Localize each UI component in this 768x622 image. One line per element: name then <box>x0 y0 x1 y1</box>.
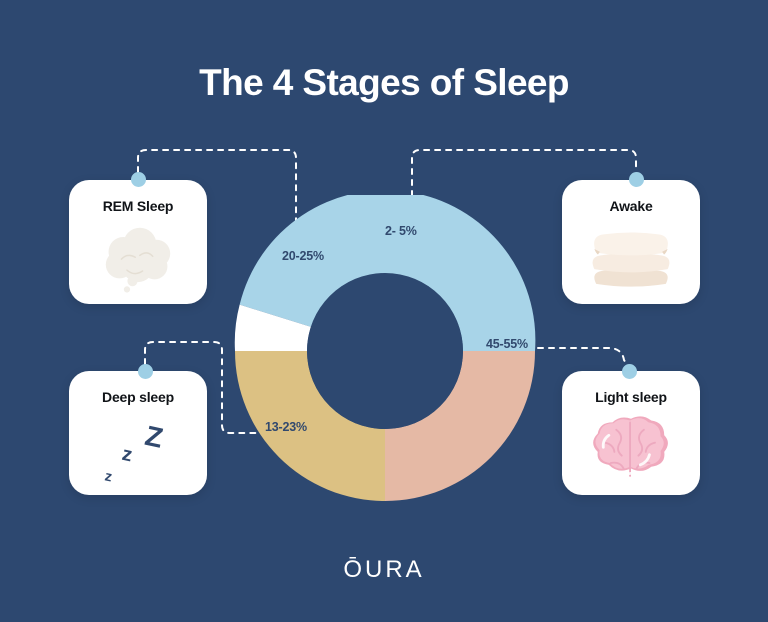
pillow-stack-icon <box>562 220 700 300</box>
brain-icon <box>562 411 700 491</box>
card-title-awake: Awake <box>562 198 700 214</box>
connector-light <box>538 348 628 366</box>
card-title-deep: Deep sleep <box>69 389 207 405</box>
card-awake[interactable]: Awake <box>562 180 700 304</box>
svg-text:z: z <box>104 467 114 484</box>
svg-text:z: z <box>120 443 134 467</box>
segment-label-rem: 20-25% <box>282 249 324 263</box>
oura-logo: ŌURA <box>0 556 768 584</box>
zzz-icon: Z z z <box>69 411 207 491</box>
dream-cloud-icon <box>69 220 207 300</box>
segment-label-deep: 13-23% <box>265 420 307 434</box>
segment-label-awake: 2- 5% <box>385 224 417 238</box>
anchor-dot-rem <box>131 172 146 187</box>
segment-label-light: 45-55% <box>486 337 528 351</box>
sleep-stages-donut-chart <box>229 195 541 507</box>
anchor-dot-awake <box>629 172 644 187</box>
card-light-sleep[interactable]: Light sleep <box>562 371 700 495</box>
card-title-rem: REM Sleep <box>69 198 207 214</box>
anchor-dot-light <box>622 364 637 379</box>
infographic-canvas: The 4 Stages of Sleep 2- 5% <box>0 0 768 622</box>
svg-text:Z: Z <box>142 419 165 454</box>
card-title-light: Light sleep <box>562 389 700 405</box>
card-rem-sleep[interactable]: REM Sleep <box>69 180 207 304</box>
card-deep-sleep[interactable]: Deep sleep Z z z <box>69 371 207 495</box>
anchor-dot-deep <box>138 364 153 379</box>
donut-hole <box>307 273 463 429</box>
